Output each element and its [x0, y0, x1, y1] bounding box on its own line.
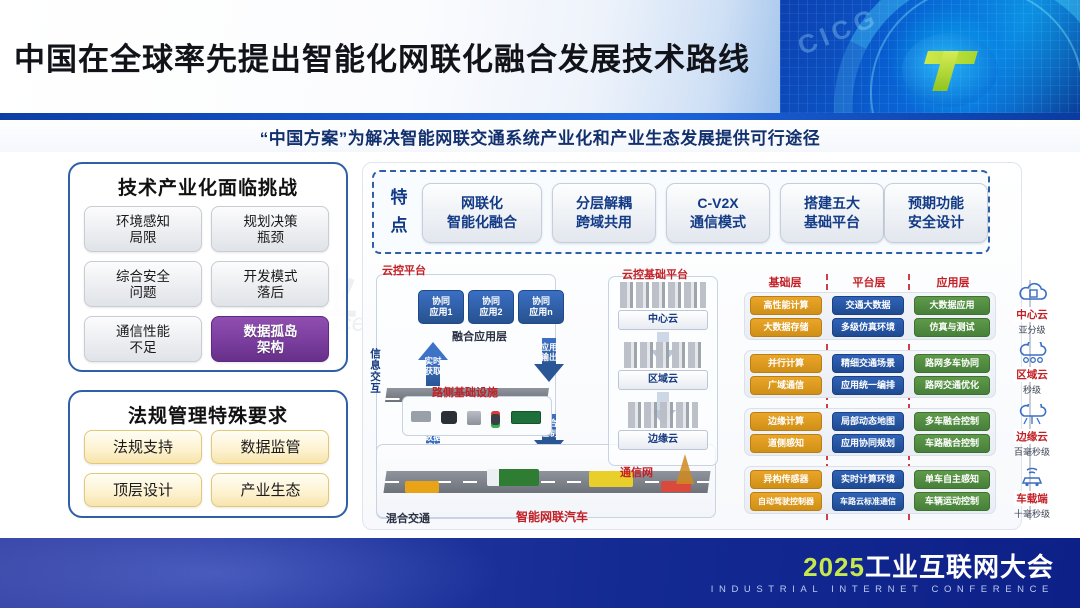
- info-exchange-vertical-label: 信息交互: [368, 348, 383, 394]
- challenge-chip-highlighted[interactable]: 数据孤岛 架构: [211, 316, 329, 362]
- cell-platform[interactable]: 局部动态地图: [832, 412, 904, 431]
- challenges-panel-title: 技术产业化面临挑战: [70, 173, 346, 200]
- cell-tower-icon: [676, 454, 694, 484]
- rail-node-center-cloud[interactable]: 中心云 亚分级: [996, 282, 1068, 336]
- rail-node-name: 边缘云: [1014, 429, 1050, 444]
- feature-box[interactable]: 网联化 智能化融合: [422, 183, 542, 243]
- slide-body: 工业互联网产业联盟 Alliance of Industrial Interne…: [0, 152, 1080, 538]
- cell-base[interactable]: 大数据存储: [750, 318, 822, 337]
- icv-label: 智能网联汽车: [516, 508, 588, 525]
- cell-app[interactable]: 仿真与测试: [914, 318, 990, 337]
- cloud-node-center[interactable]: 中心云: [618, 310, 708, 330]
- cell-app[interactable]: 车辆运动控制: [914, 492, 990, 511]
- vehicle-pickup: [405, 481, 439, 493]
- server-rack-center: [620, 282, 706, 308]
- server-rack-edge: [628, 402, 698, 428]
- radar-icon: [441, 411, 457, 424]
- page-header: CICG 中国在全球率先提出智能化网联化融合发展技术路线: [0, 0, 1080, 113]
- cell-base[interactable]: 自动驾驶控制器: [750, 492, 822, 511]
- camera-icon: [411, 411, 431, 422]
- cell-base[interactable]: 边缘计算: [750, 412, 822, 431]
- rail-node-edge-cloud[interactable]: 边缘云 百毫秒级: [996, 404, 1068, 458]
- subtitle-bar: “中国方案”为解决智能网联交通系统产业化和产业生态发展提供可行途径: [0, 120, 1080, 152]
- regulation-chip[interactable]: 顶层设计: [84, 473, 202, 507]
- collab-app-2[interactable]: 协同 应用2: [468, 290, 514, 324]
- cell-platform[interactable]: 精细交通场景: [832, 354, 904, 373]
- feature-box[interactable]: C-V2X 通信模式: [666, 183, 770, 243]
- header-divider: [0, 113, 1080, 120]
- antenna-icon: [467, 411, 481, 425]
- server-rack-region: [624, 342, 702, 368]
- conference-year: 2025: [803, 552, 865, 582]
- cell-platform[interactable]: 应用协同规划: [832, 434, 904, 453]
- conference-name-en: INDUSTRIAL INTERNET CONFERENCE: [711, 584, 1054, 595]
- realtime-acquire-label: 实时 获取: [418, 356, 448, 376]
- features-label: 特 点: [386, 184, 412, 240]
- roadside-infra-title: 路侧基础设施: [432, 384, 498, 400]
- regulation-panel-title: 法规管理特殊要求: [70, 401, 346, 428]
- rail-node-sub: 亚分级: [996, 323, 1068, 336]
- mixed-traffic-label: 混合交通: [386, 510, 430, 526]
- rail-node-sub: 十毫秒级: [996, 507, 1068, 520]
- cell-app[interactable]: 大数据应用: [914, 296, 990, 315]
- realtime-acquire-arrow: 实时 获取: [418, 342, 448, 386]
- cell-app[interactable]: 多车融合控制: [914, 412, 990, 431]
- subtitle-text: “中国方案”为解决智能网联交通系统产业化和产业生态发展提供可行途径: [0, 124, 1080, 149]
- challenge-chip[interactable]: 规划决策 瓶颈: [211, 206, 329, 252]
- regulation-chip-grid: 法规支持 数据监管 顶层设计 产业生态: [84, 430, 336, 516]
- cloud-node-edge[interactable]: 边缘云: [618, 430, 708, 450]
- regulation-chip[interactable]: 产业生态: [211, 473, 329, 507]
- page-footer: 2025工业互联网大会 INDUSTRIAL INTERNET CONFEREN…: [0, 538, 1080, 608]
- tech-capability-table: 基础层 平台层 应用层 高性能计算 大数据存储 交通大数据 多级仿真环境 大数据…: [748, 274, 992, 520]
- page-title: 中国在全球率先提出智能化网联化融合发展技术路线: [14, 34, 750, 79]
- challenge-chip[interactable]: 开发模式 落后: [211, 261, 329, 307]
- feature-box[interactable]: 分层解耦 跨域共用: [552, 183, 656, 243]
- cell-platform[interactable]: 交通大数据: [832, 296, 904, 315]
- cloud-base-title: 云控基础平台: [622, 266, 688, 282]
- rail-node-name: 区域云: [1014, 367, 1050, 382]
- rail-node-vehicle-terminal[interactable]: 车载端 十毫秒级: [996, 466, 1068, 520]
- cell-app[interactable]: 单车自主感知: [914, 470, 990, 489]
- regulation-chip[interactable]: 数据监管: [211, 430, 329, 464]
- challenges-panel: 技术产业化面临挑战 环境感知 局限 规划决策 瓶颈 综合安全 问题 开发模式 落…: [68, 162, 348, 372]
- regulation-panel: 法规管理特殊要求 法规支持 数据监管 顶层设计 产业生态: [68, 390, 348, 518]
- traffic-light-icon: [491, 411, 500, 428]
- challenge-chip[interactable]: 通信性能 不足: [84, 316, 202, 362]
- table-header-app: 应用层: [914, 274, 992, 290]
- vms-board-icon: [511, 411, 541, 424]
- app-output-label: 应用 输出: [534, 342, 564, 362]
- cell-base[interactable]: 并行计算: [750, 354, 822, 373]
- challenge-chip[interactable]: 环境感知 局限: [84, 206, 202, 252]
- fusion-layer-label: 融合应用层: [452, 328, 507, 344]
- cell-app[interactable]: 车路融合控制: [914, 434, 990, 453]
- vehicle-terminal-icon: [1015, 466, 1049, 488]
- rail-node-name: 中心云: [1014, 307, 1050, 322]
- challenge-chip[interactable]: 综合安全 问题: [84, 261, 202, 307]
- cloud-node-region[interactable]: 区域云: [618, 370, 708, 390]
- vehicle-truck: [487, 469, 539, 486]
- rail-node-region-cloud[interactable]: 区域云 秒级: [996, 342, 1068, 396]
- cloud-platform-title: 云控平台: [382, 262, 426, 278]
- cell-platform[interactable]: 车路云标准通信: [832, 492, 904, 511]
- cell-base[interactable]: 广域通信: [750, 376, 822, 395]
- app-output-arrow: 应用 输出: [534, 338, 564, 382]
- cloud-center-icon: [1015, 282, 1049, 304]
- cell-base[interactable]: 异构传感器: [750, 470, 822, 489]
- collab-app-n[interactable]: 协同 应用n: [518, 290, 564, 324]
- features-strip: 特 点 网联化 智能化融合 分层解耦 跨域共用 C-V2X 通信模式 搭建五大 …: [372, 170, 990, 254]
- regulation-chip[interactable]: 法规支持: [84, 430, 202, 464]
- roadside-infrastructure-box: [402, 396, 552, 436]
- rail-node-sub: 百毫秒级: [996, 445, 1068, 458]
- conference-name-cn: 工业互联网大会: [865, 552, 1054, 582]
- cell-base[interactable]: 道侧感知: [750, 434, 822, 453]
- collab-app-1[interactable]: 协同 应用1: [418, 290, 464, 324]
- conference-logo-main: 2025工业互联网大会: [711, 552, 1054, 582]
- cell-base[interactable]: 高性能计算: [750, 296, 822, 315]
- communication-network-label: 通信网: [620, 464, 653, 480]
- header-grid-texture: [780, 0, 1080, 113]
- rail-node-sub: 秒级: [996, 383, 1068, 396]
- cell-app[interactable]: 路网交通优化: [914, 376, 990, 395]
- cell-platform[interactable]: 实时计算环境: [832, 470, 904, 489]
- rail-node-name: 车载端: [1014, 491, 1050, 506]
- latency-rail: 中心云 亚分级 区域云 秒级 边缘云 百毫秒级: [996, 280, 1068, 520]
- table-header-platform: 平台层: [832, 274, 906, 290]
- feature-box[interactable]: 搭建五大 基础平台: [780, 183, 884, 243]
- conference-logo: 2025工业互联网大会 INDUSTRIAL INTERNET CONFEREN…: [711, 552, 1054, 595]
- header-decorative-art: CICG: [780, 0, 1080, 113]
- cell-platform[interactable]: 应用统一编排: [832, 376, 904, 395]
- feature-box[interactable]: 预期功能 安全设计: [884, 183, 988, 243]
- cell-app[interactable]: 路网多车协同: [914, 354, 990, 373]
- cloud-edge-icon: [1015, 404, 1049, 426]
- t-logo-icon: [920, 45, 978, 91]
- cloud-region-icon: [1015, 342, 1049, 364]
- cell-platform[interactable]: 多级仿真环境: [832, 318, 904, 337]
- challenges-chip-grid: 环境感知 局限 规划决策 瓶颈 综合安全 问题 开发模式 落后 通信性能 不足 …: [84, 206, 336, 371]
- table-header-base: 基础层: [748, 274, 822, 290]
